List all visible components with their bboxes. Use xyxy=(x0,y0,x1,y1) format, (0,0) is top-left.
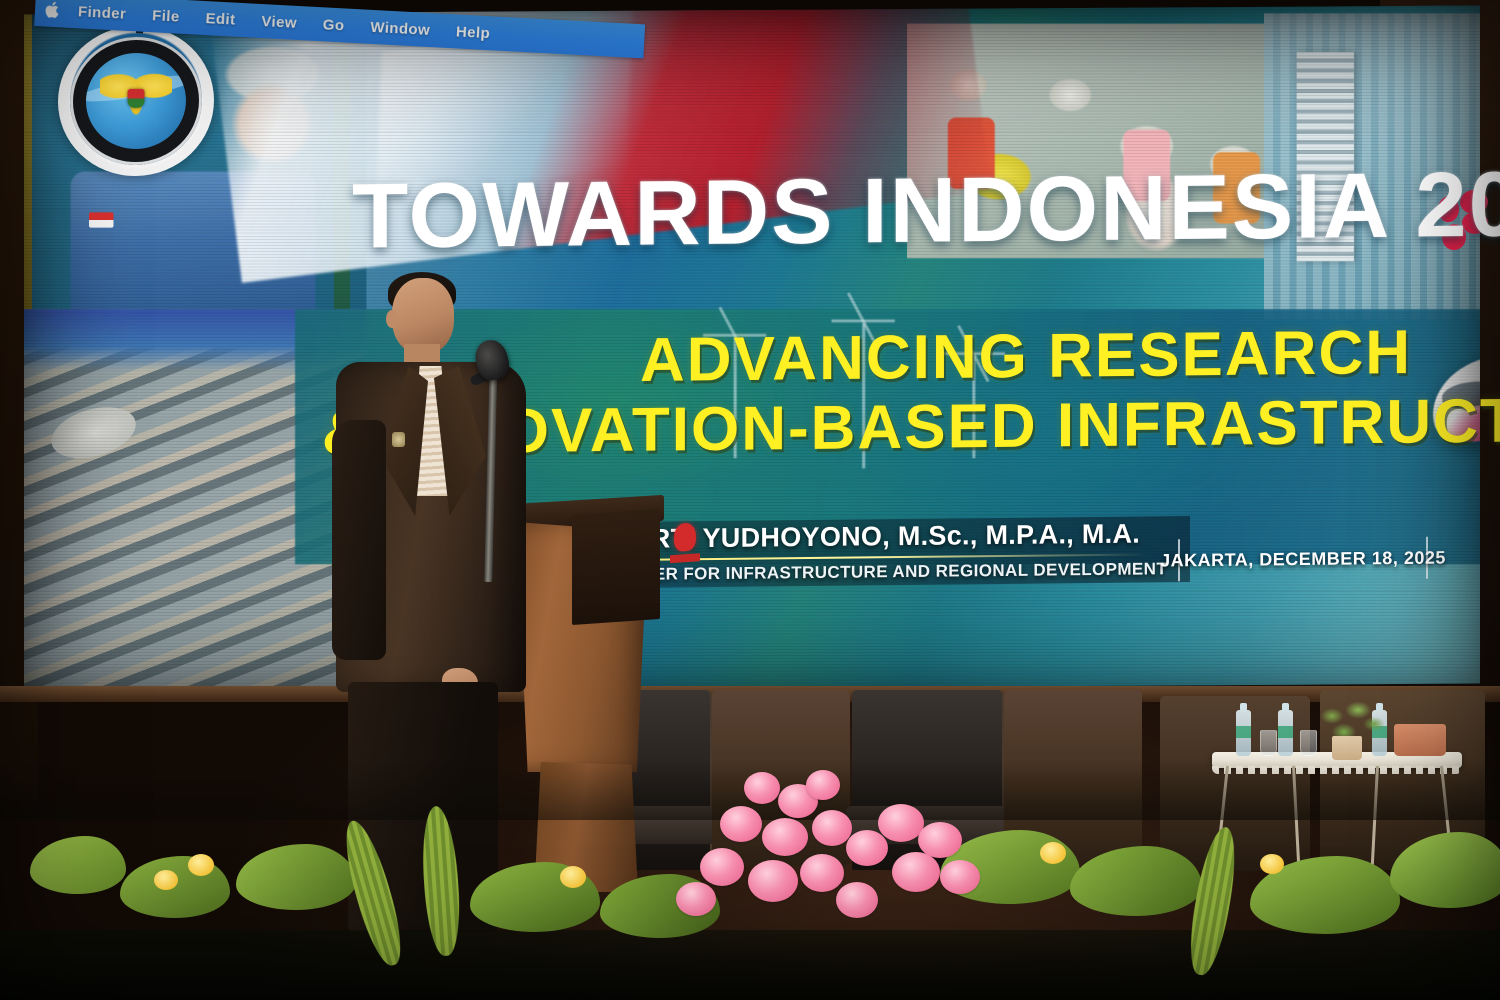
pink-blossom xyxy=(836,882,878,918)
event-location-date: JAKARTA, DECEMBER 18, 2025 xyxy=(1160,547,1446,571)
apple-logo-icon[interactable] xyxy=(45,1,62,20)
screenshot-root: TOWARDS INDONESIA 2045 ADVANCING RESEARC… xyxy=(0,0,1500,1000)
table-potted-plant xyxy=(1316,700,1388,756)
water-bottle xyxy=(1236,710,1251,756)
pink-blossom xyxy=(800,854,844,892)
menu-item-window[interactable]: Window xyxy=(357,18,444,40)
clay-pot xyxy=(1394,724,1446,756)
plant-leaf xyxy=(1390,832,1500,908)
pink-blossom xyxy=(762,818,808,856)
speaker-ear xyxy=(386,310,398,328)
podium-logo-icon xyxy=(670,522,700,566)
yellow-blossom xyxy=(560,866,586,888)
yellow-blossom xyxy=(188,854,214,876)
pink-blossom xyxy=(700,848,744,886)
plant-leaf xyxy=(30,836,126,894)
event-date-box: JAKARTA, DECEMBER 18, 2025 xyxy=(1178,537,1428,582)
pink-blossom xyxy=(812,810,852,846)
menu-item-view[interactable]: View xyxy=(248,12,310,32)
water-bottle xyxy=(1278,710,1293,756)
drinking-glass xyxy=(1260,730,1277,756)
speaker-head xyxy=(392,278,454,354)
yellow-blossom xyxy=(1260,854,1284,874)
foreground-flower-arrangement xyxy=(0,770,1500,1000)
menu-item-help[interactable]: Help xyxy=(443,22,504,42)
pink-blossom xyxy=(846,830,888,866)
banner-title: TOWARDS INDONESIA 2045 xyxy=(352,161,1500,259)
menu-item-go[interactable]: Go xyxy=(309,15,357,35)
speaker-lapel-pin xyxy=(392,432,405,447)
pink-blossom xyxy=(892,852,940,892)
pink-blossom xyxy=(720,806,762,842)
pink-blossom xyxy=(744,772,780,804)
plant-leaf xyxy=(1070,846,1202,916)
indonesian-flag-patch xyxy=(89,212,113,227)
pink-blossom xyxy=(878,804,924,842)
fern-frond xyxy=(419,805,463,957)
garuda-shield-icon xyxy=(128,89,145,108)
pink-blossom xyxy=(748,860,798,902)
yellow-blossom xyxy=(1040,842,1066,864)
menu-item-file[interactable]: File xyxy=(139,6,193,26)
pink-blossom xyxy=(806,770,840,800)
menu-item-edit[interactable]: Edit xyxy=(192,9,249,29)
pink-blossom xyxy=(940,860,980,894)
plant-leaf xyxy=(236,844,356,910)
podium-front-panel xyxy=(572,509,660,625)
pink-blossom xyxy=(676,882,716,916)
menu-item-finder[interactable]: Finder xyxy=(65,2,140,23)
speaker-arm xyxy=(332,420,386,660)
banner-subtitle-line1: ADVANCING RESEARCH xyxy=(640,324,1412,391)
yellow-blossom xyxy=(154,870,178,890)
drinking-glass xyxy=(1300,730,1317,756)
